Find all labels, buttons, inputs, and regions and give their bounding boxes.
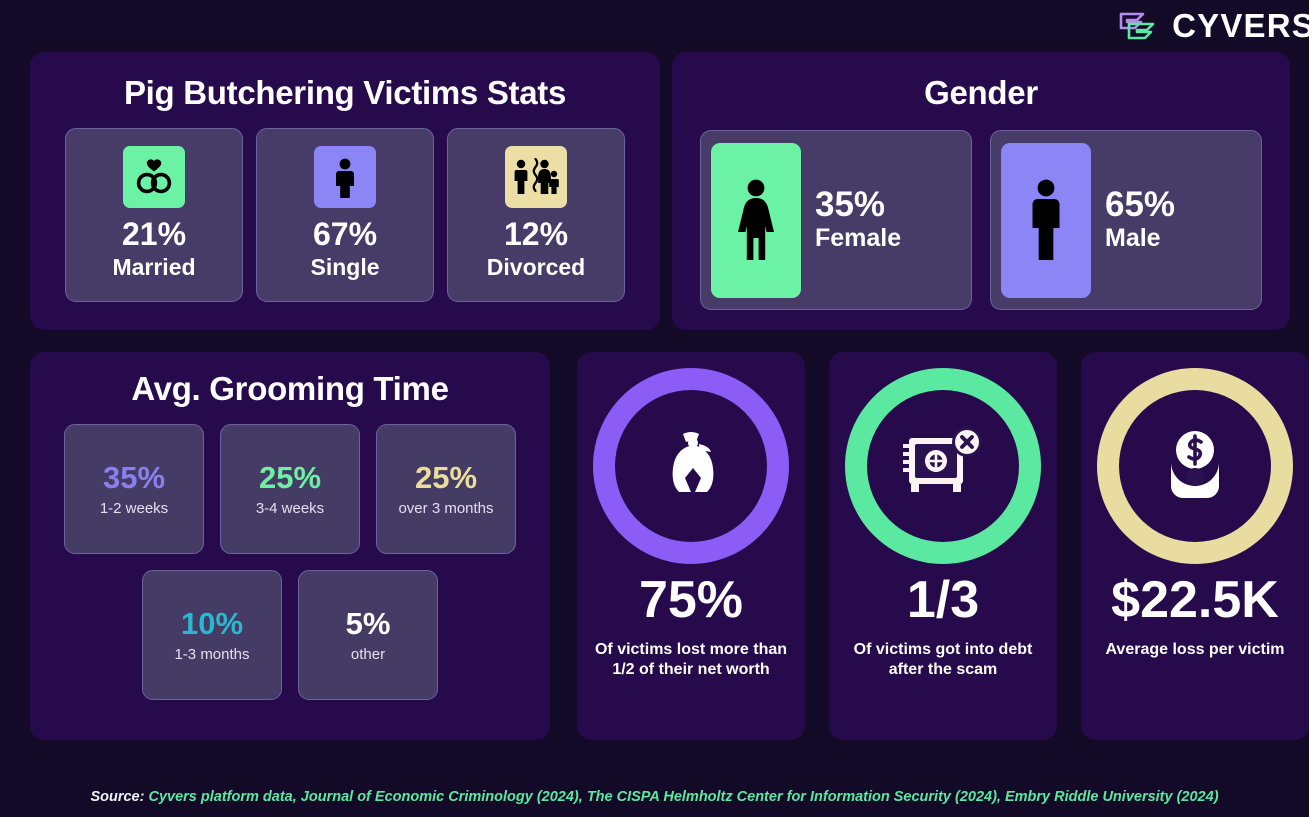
cyvers-logo: CYVERS — [1117, 9, 1309, 42]
highlight-value: 1/3 — [907, 574, 979, 626]
panel-highlight-average-loss: $22.5K Average loss per victim — [1081, 352, 1309, 740]
groom-card-other: 5% other — [298, 570, 438, 700]
panel-title-victims-stats: Pig Butchering Victims Stats — [30, 74, 660, 112]
grooming-row-top: 35% 1-2 weeks 25% 3-4 weeks 25% over 3 m… — [30, 424, 550, 554]
highlight-caption: Average loss per victim — [1091, 640, 1298, 660]
grooming-row-bottom: 10% 1-3 months 5% other — [30, 570, 550, 700]
groom-percent: 10% — [181, 608, 243, 639]
ring-inner — [867, 390, 1019, 542]
groom-card-1-2-weeks: 35% 1-2 weeks — [64, 424, 204, 554]
male-icon-box — [1001, 143, 1091, 298]
panel-victims-stats: Pig Butchering Victims Stats 21% Married… — [30, 52, 660, 330]
married-rings-icon — [132, 155, 176, 199]
stat-card-single: 67% Single — [256, 128, 434, 302]
female-figure-icon — [730, 174, 782, 266]
ring-inner — [1119, 390, 1271, 542]
highlight-value: 75% — [639, 574, 743, 626]
male-figure-icon — [1023, 174, 1069, 266]
groom-label: over 3 months — [398, 501, 493, 516]
cyvers-chevron-logo-icon — [1117, 10, 1161, 42]
groom-label: other — [351, 647, 385, 662]
panel-gender: Gender 35% Female 65% — [672, 52, 1290, 330]
source-label: Source: — [90, 789, 144, 805]
highlight-caption: Of victims got into debt after the scam — [829, 640, 1057, 680]
panel-highlight-net-worth: 75% Of victims lost more than 1/2 of the… — [577, 352, 805, 740]
gender-card-female: 35% Female — [700, 130, 972, 310]
groom-label: 3-4 weeks — [256, 501, 324, 516]
married-icon-box — [123, 146, 185, 208]
gender-label: Male — [1105, 224, 1161, 253]
highlight-value: $22.5K — [1111, 574, 1279, 626]
stat-percent: 67% — [313, 218, 377, 250]
stat-card-married: 21% Married — [65, 128, 243, 302]
groom-card-3-4-weeks: 25% 3-4 weeks — [220, 424, 360, 554]
money-bag-icon — [649, 424, 733, 508]
stat-percent: 21% — [122, 218, 186, 250]
stat-label: Divorced — [487, 256, 585, 279]
groom-percent: 25% — [415, 462, 477, 493]
logo-text: CYVERS — [1172, 9, 1309, 42]
groom-percent: 25% — [259, 462, 321, 493]
source-text: Cyvers platform data, Journal of Economi… — [149, 789, 1219, 805]
gender-percent: 65% — [1105, 187, 1175, 224]
groom-percent: 5% — [346, 608, 391, 639]
panel-title-grooming-time: Avg. Grooming Time — [30, 370, 550, 408]
divorced-icon-box — [505, 146, 567, 208]
gender-text-male: 65% Male — [1105, 187, 1175, 253]
ring-debt — [845, 368, 1041, 564]
victims-stats-row: 21% Married 67% Single — [30, 128, 660, 302]
dollar-coin-loss-icon — [1155, 424, 1235, 508]
groom-card-1-3-months: 10% 1-3 months — [142, 570, 282, 700]
female-icon-box — [711, 143, 801, 298]
gender-card-male: 65% Male — [990, 130, 1262, 310]
groom-card-over-3-months: 25% over 3 months — [376, 424, 516, 554]
source-footer: Source: Cyvers platform data, Journal of… — [0, 789, 1309, 805]
stat-label: Single — [310, 256, 379, 279]
highlight-caption: Of victims lost more than 1/2 of their n… — [577, 640, 805, 680]
groom-label: 1-3 months — [174, 647, 249, 662]
panel-grooming-time: Avg. Grooming Time 35% 1-2 weeks 25% 3-4… — [30, 352, 550, 740]
ring-net-worth — [593, 368, 789, 564]
ring-average-loss — [1097, 368, 1293, 564]
gender-label: Female — [815, 224, 901, 253]
stat-percent: 12% — [504, 218, 568, 250]
groom-percent: 35% — [103, 462, 165, 493]
logo-bar: CYVERS — [0, 0, 1309, 52]
safe-broken-icon — [899, 424, 987, 508]
panel-title-gender: Gender — [672, 74, 1290, 112]
gender-row: 35% Female 65% Male — [672, 130, 1290, 310]
stat-card-divorced: 12% Divorced — [447, 128, 625, 302]
single-icon-box — [314, 146, 376, 208]
gender-text-female: 35% Female — [815, 187, 901, 253]
gender-percent: 35% — [815, 187, 885, 224]
single-person-icon — [325, 155, 365, 199]
stat-label: Married — [112, 256, 195, 279]
ring-inner — [615, 390, 767, 542]
panel-highlight-debt: 1/3 Of victims got into debt after the s… — [829, 352, 1057, 740]
divorced-family-icon — [513, 156, 559, 198]
groom-label: 1-2 weeks — [100, 501, 168, 516]
